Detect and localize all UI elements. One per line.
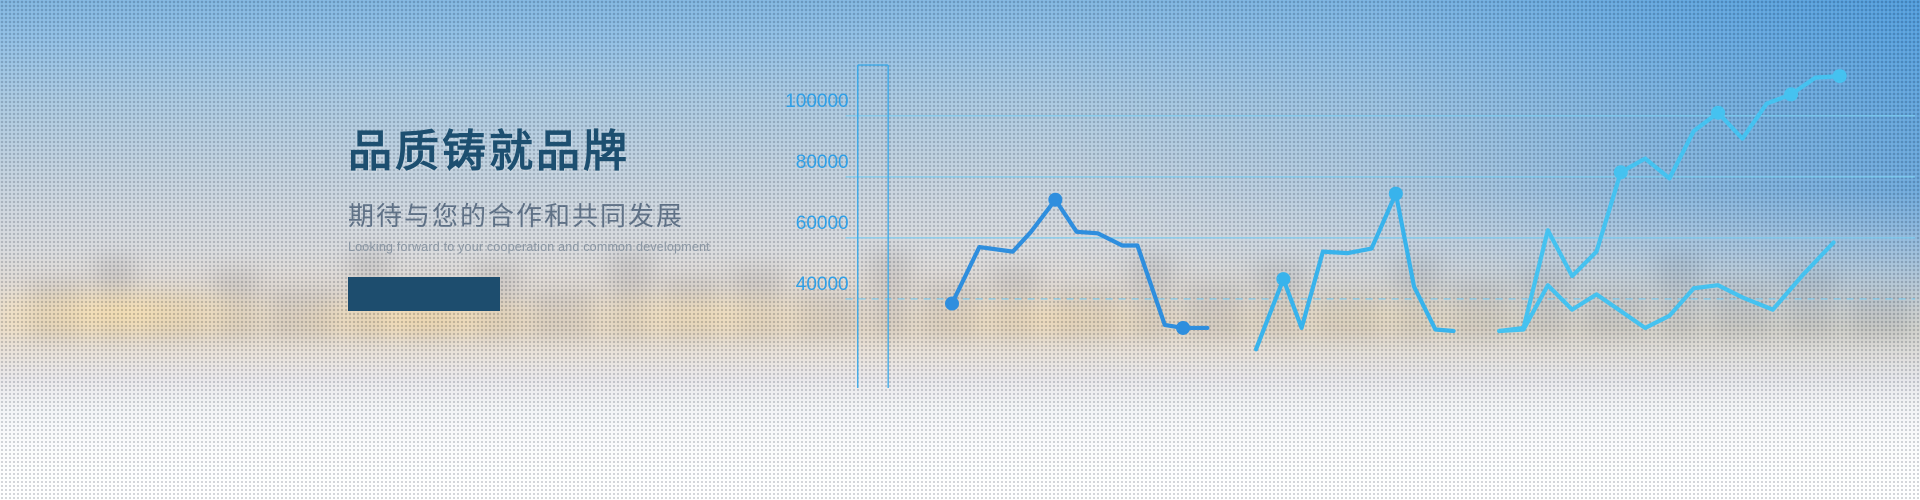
chart-data-point[interactable] (1711, 106, 1725, 120)
chart-series-line (952, 200, 1207, 328)
hero-tagline-english: Looking forward to your cooperation and … (348, 240, 710, 254)
page-title: 品质铸就品牌 (348, 128, 710, 176)
chart-data-point[interactable] (1784, 87, 1798, 101)
hero-copy-block: 品质铸就品牌 期待与您的合作和共同发展 Looking forward to y… (348, 128, 710, 311)
chart-series-layer (945, 69, 1847, 349)
chart-gridlines (846, 116, 1915, 299)
cta-button[interactable] (348, 277, 500, 311)
y-tick-label: 60000 (796, 213, 849, 234)
hero-banner: 品质铸就品牌 期待与您的合作和共同发展 Looking forward to y… (0, 0, 1920, 500)
chart-canvas: 100000800006000040000 (760, 60, 1920, 380)
chart-series-line (1256, 194, 1454, 350)
chart-data-point[interactable] (1176, 321, 1190, 335)
y-tick-label: 100000 (785, 91, 848, 112)
chart-data-point[interactable] (945, 297, 959, 311)
chart-axis-frame (858, 65, 888, 388)
chart-data-point[interactable] (1614, 165, 1628, 179)
chart-y-tick-labels: 100000800006000040000 (785, 91, 848, 295)
hero-subtitle: 期待与您的合作和共同发展 (348, 202, 710, 231)
chart-series-line (1499, 242, 1833, 331)
y-tick-label: 40000 (796, 274, 849, 295)
line-chart: 100000800006000040000 (760, 60, 1920, 380)
chart-data-point[interactable] (1048, 193, 1062, 207)
y-tick-label: 80000 (796, 152, 849, 173)
chart-data-point[interactable] (1389, 187, 1403, 201)
chart-data-point[interactable] (1833, 69, 1847, 83)
chart-data-point[interactable] (1276, 272, 1290, 286)
